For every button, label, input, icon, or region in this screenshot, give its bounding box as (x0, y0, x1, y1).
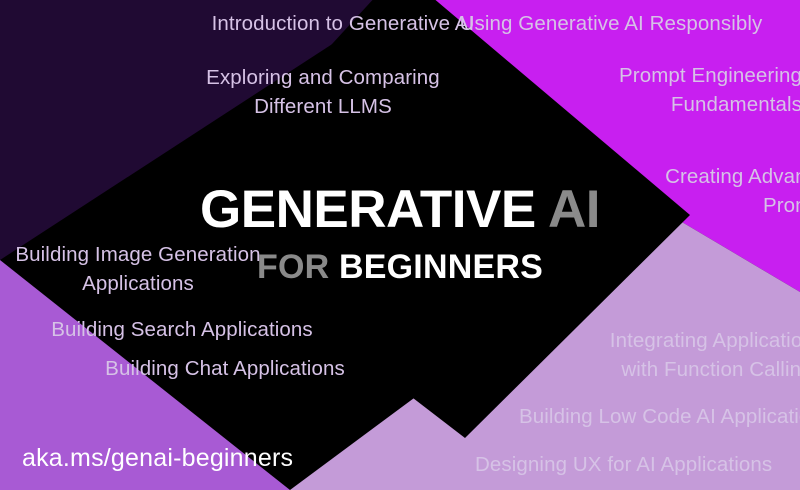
module-building-chat-applications: Building Chat Applications (70, 354, 380, 383)
module-building-search-applications: Building Search Applications (22, 315, 342, 344)
module-integrating-applications-with-function-calling: Integrating Applications with Function C… (572, 326, 800, 384)
module-using-generative-ai-responsibly: Using Generative AI Responsibly (420, 9, 800, 38)
module-building-low-code-ai-applications: Building Low Code AI Applications (519, 402, 800, 431)
module-prompt-engineering-fundamentals: Prompt Engineering Fundamentals (420, 61, 800, 119)
generative-ai-course-poster: Introduction to Generative AI Exploring … (0, 0, 800, 490)
module-designing-ux-for-ai-applications: Designing UX for AI Applications (475, 450, 800, 479)
module-creating-advanced-prompts: Creating Advanced Prompts (480, 162, 800, 220)
module-building-image-generation-applications: Building Image Generation Applications (0, 240, 283, 298)
course-url[interactable]: aka.ms/genai-beginners (22, 444, 293, 473)
